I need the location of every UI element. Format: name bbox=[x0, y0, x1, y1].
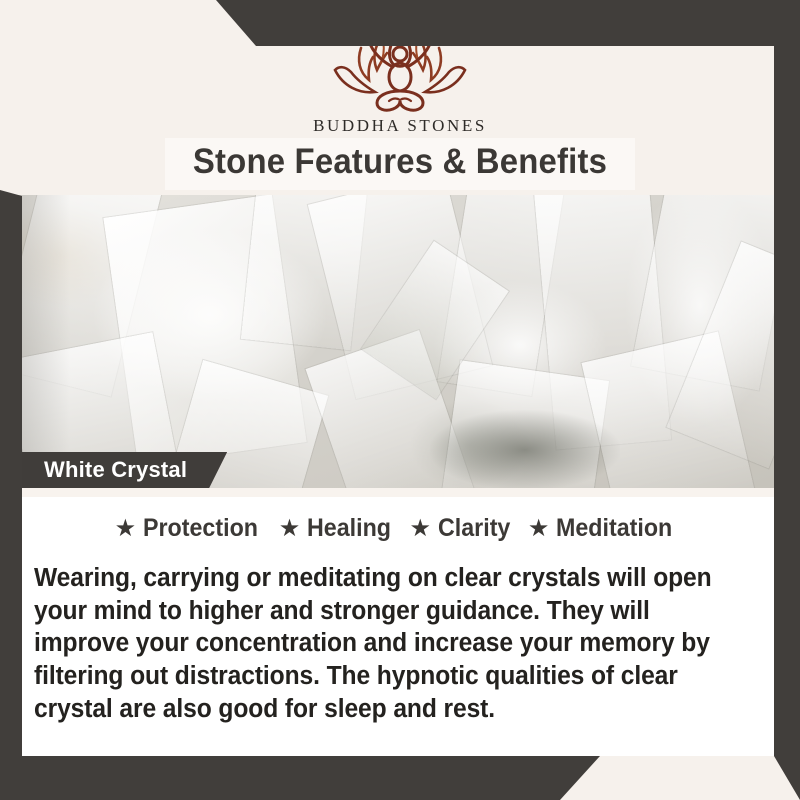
info-panel: ★ Protection ★ Healing ★ Clarity ★ Medit… bbox=[22, 488, 774, 756]
frame-bottom-bar bbox=[0, 756, 800, 800]
benefits-list: ★ Protection ★ Healing ★ Clarity ★ Medit… bbox=[22, 514, 774, 543]
benefit-item: ★ Healing bbox=[279, 514, 398, 543]
panel-divider bbox=[22, 488, 774, 497]
stone-name-tag: White Crystal bbox=[22, 452, 227, 488]
stone-name-label: White Crystal bbox=[44, 457, 187, 483]
benefit-label: Protection bbox=[143, 514, 258, 543]
benefit-item: ★ Clarity bbox=[410, 514, 516, 543]
frame-right-bar bbox=[774, 0, 800, 800]
crystal-shadow-core bbox=[430, 410, 620, 488]
benefit-label: Healing bbox=[307, 514, 391, 543]
stone-description: Wearing, carrying or meditating on clear… bbox=[34, 562, 735, 725]
benefit-item: ★ Protection bbox=[115, 514, 267, 543]
crystal-photo-texture bbox=[0, 195, 800, 488]
page-title: Stone Features & Benefits bbox=[24, 142, 776, 182]
star-icon: ★ bbox=[410, 517, 432, 541]
star-icon: ★ bbox=[115, 517, 137, 541]
benefit-label: Meditation bbox=[556, 514, 672, 543]
star-icon: ★ bbox=[279, 517, 301, 541]
product-info-poster: BUDDHA STONES Stone Features & Benefits … bbox=[0, 0, 800, 800]
crystal-hero-image bbox=[0, 195, 800, 488]
benefit-item: ★ Meditation bbox=[528, 514, 682, 543]
brand-name: BUDDHA STONES bbox=[313, 116, 487, 136]
benefit-label: Clarity bbox=[438, 514, 510, 543]
star-icon: ★ bbox=[528, 517, 550, 541]
